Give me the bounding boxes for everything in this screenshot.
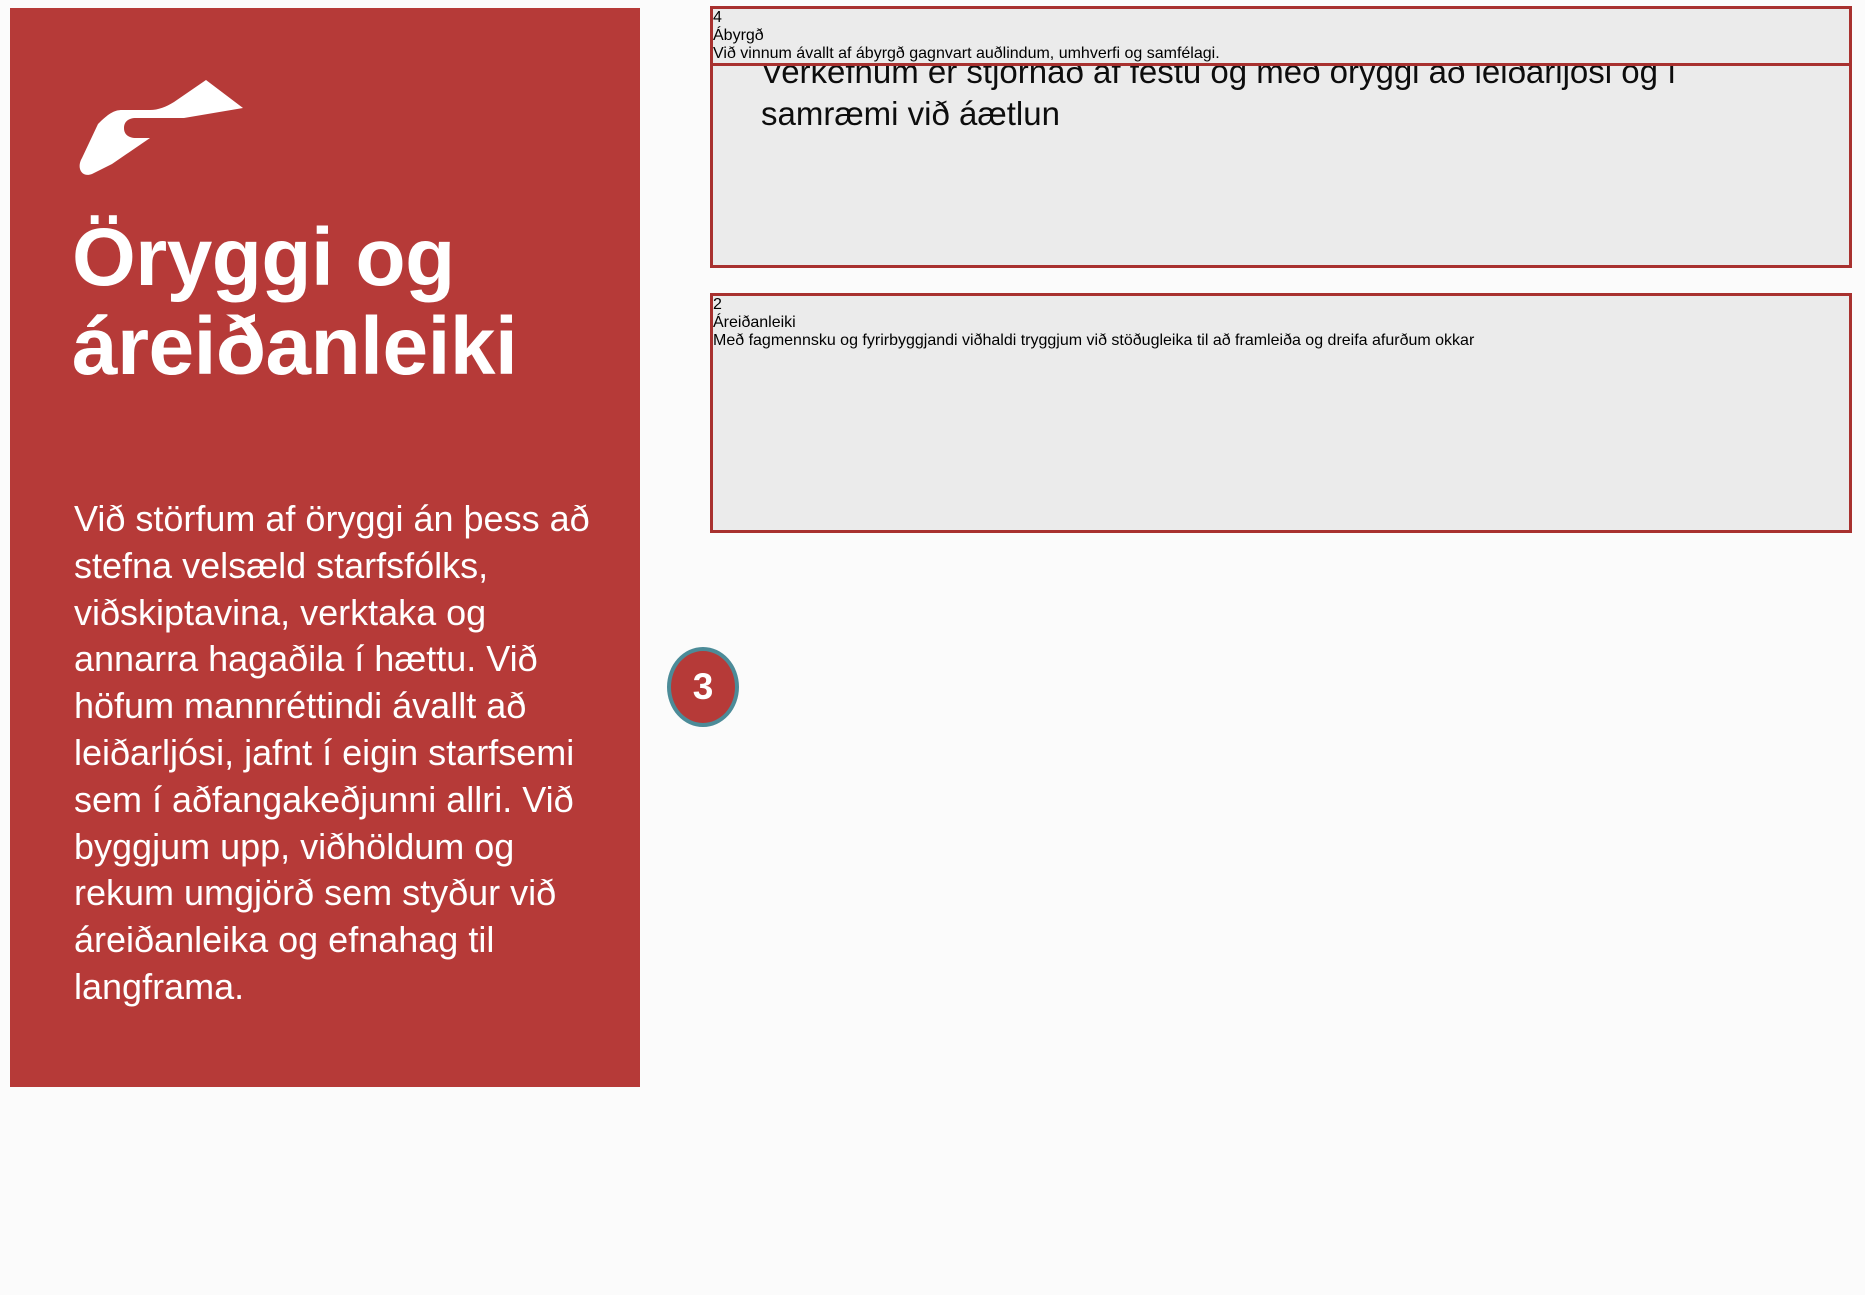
open-hand-icon [78,80,243,180]
card-description: Við vinnum ávallt af ábyrgð gagnvart auð… [713,45,1849,63]
left-red-panel: Öryggi og áreiðanleiki Við störfum af ör… [10,8,640,1087]
card-content: Ábyrgð Við vinnum ávallt af ábyrgð gagnv… [713,27,1849,63]
slide-canvas: Öryggi og áreiðanleiki Við störfum af ör… [0,0,1865,1295]
value-card[interactable]: 4 Ábyrgð Við vinnum ávallt af ábyrgð gag… [710,6,1852,66]
card-content: Áreiðanleiki Með fagmennsku og fyrirbygg… [713,314,1849,350]
page-title: Öryggi og áreiðanleiki [72,214,632,391]
step-number-badge: 2 [713,296,1849,314]
card-title: Ábyrgð [713,27,1849,45]
step-number-badge: 4 [713,9,1849,27]
panel-body-text: Við störfum af öryggi án þess að stefna … [74,496,614,1011]
card-column: 1 Öryggi Okkar forgangsmál er að við öll… [710,6,1856,1289]
card-title: Áreiðanleiki [713,314,1849,332]
value-card[interactable]: 2 Áreiðanleiki Með fagmennsku og fyrirby… [710,293,1852,533]
card-description: Með fagmennsku og fyrirbyggjandi viðhald… [713,332,1849,350]
step-number-badge: 3 [667,647,739,727]
